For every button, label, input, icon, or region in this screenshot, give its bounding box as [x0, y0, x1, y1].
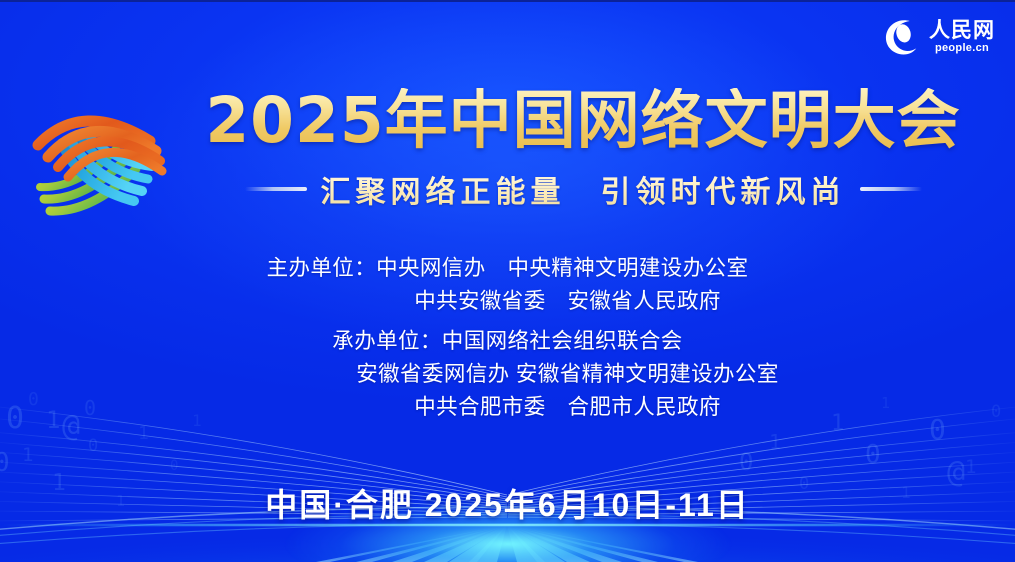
subtitle-rule-left — [245, 187, 307, 191]
conference-emblem-icon — [22, 83, 182, 223]
people-globe-icon — [878, 14, 922, 58]
brand-latin-name: people.cn — [935, 43, 989, 54]
organizer-line-3: 中共合肥市委 合肥市人民政府 — [0, 391, 1015, 424]
subtitle-rule-right — [860, 187, 922, 191]
organizer-group: 承办单位：中国网络社会组织联合会 安徽省委网信办 安徽省精神文明建设办公室 中共… — [0, 325, 1015, 423]
conference-poster: 011010101010@ 0101010101@ 人民网 people.cn — [0, 0, 1015, 562]
brand-cn-name: 人民网 — [929, 19, 995, 40]
host-group: 主办单位：中央网信办 中央精神文明建设办公室 中共安徽省委 安徽省人民政府 — [0, 252, 1015, 317]
organizer-line-1: 承办单位：中国网络社会组织联合会 — [0, 325, 1015, 358]
host-line-1: 主办单位：中央网信办 中央精神文明建设办公室 — [0, 252, 1015, 285]
people-cn-logo[interactable]: 人民网 people.cn — [878, 14, 995, 58]
headline-block: 2025年中国网络文明大会 汇聚网络正能量 引领时代新风尚 — [178, 88, 988, 211]
page-subtitle: 汇聚网络正能量 引领时代新风尚 — [321, 167, 846, 211]
page-title: 2025年中国网络文明大会 — [178, 88, 988, 154]
venue-date-line: 中国·合肥 2025年6月10日-11日 — [0, 480, 1015, 526]
top-border-line — [0, 0, 1015, 2]
organizers-block: 主办单位：中央网信办 中央精神文明建设办公室 中共安徽省委 安徽省人民政府 承办… — [0, 252, 1015, 423]
subtitle-row: 汇聚网络正能量 引领时代新风尚 — [178, 167, 988, 211]
host-line-2: 中共安徽省委 安徽省人民政府 — [0, 285, 1015, 318]
organizer-line-2: 安徽省委网信办 安徽省精神文明建设办公室 — [0, 358, 1015, 391]
